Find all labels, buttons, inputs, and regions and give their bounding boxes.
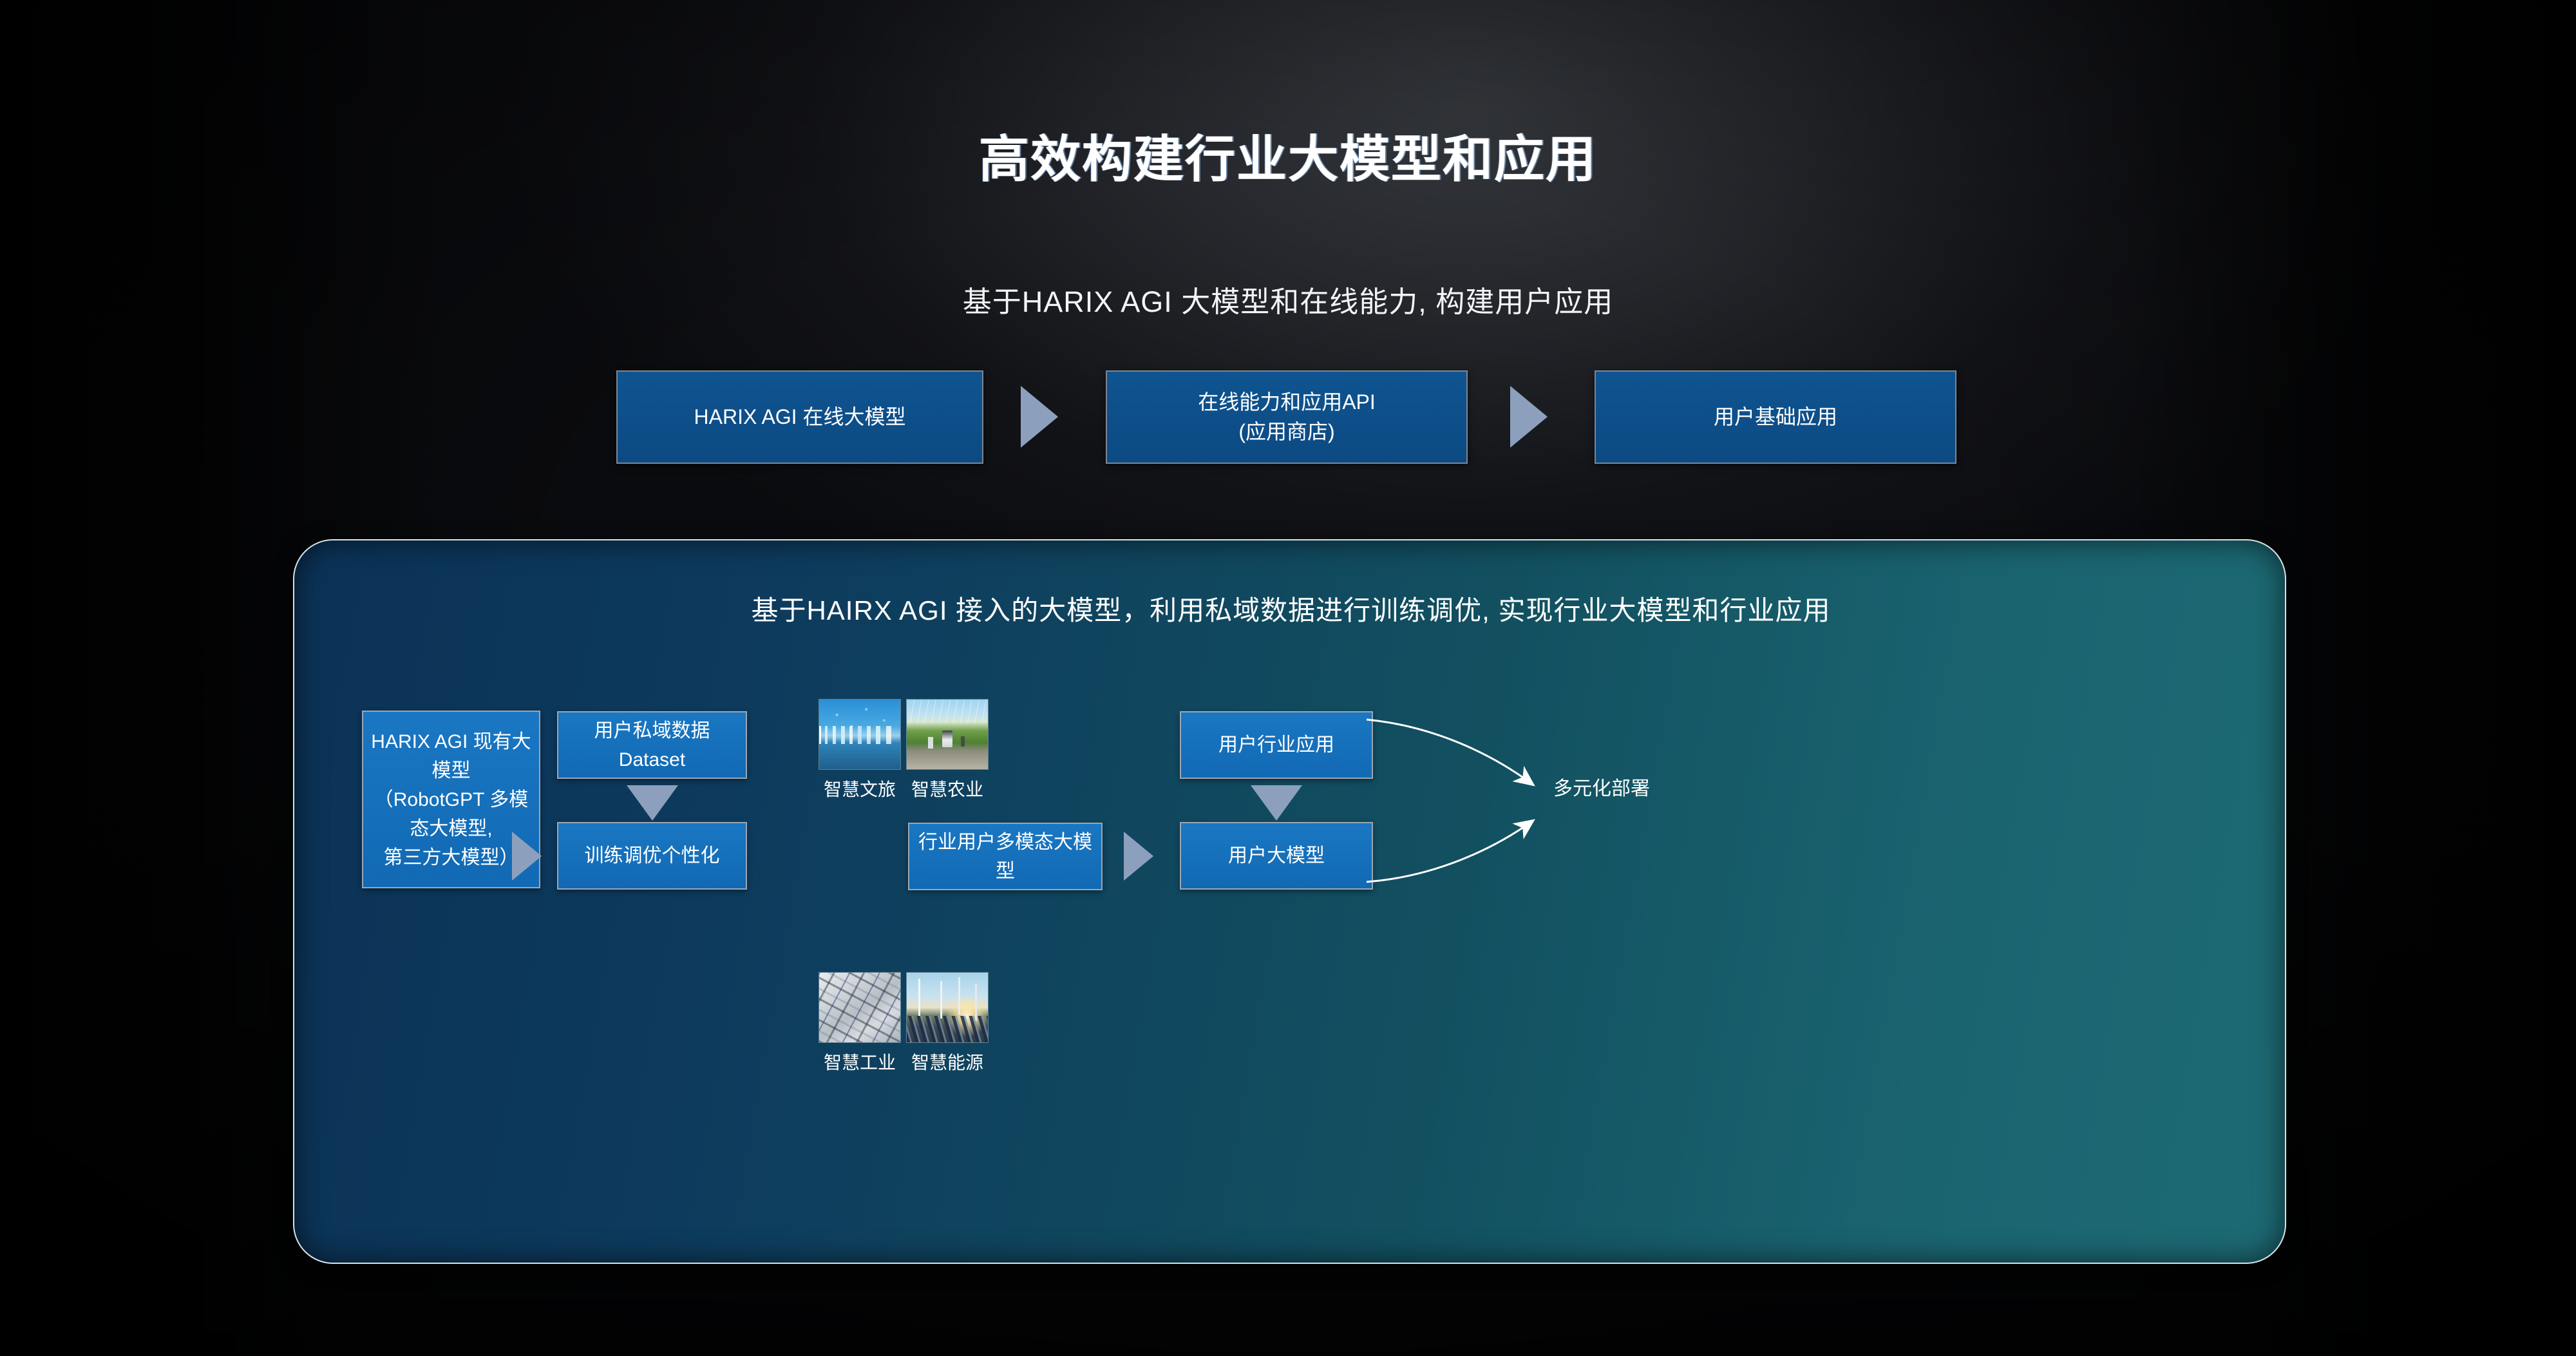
top-flow-box-user-base-app-label: 用户基础应用 — [1714, 403, 1837, 432]
thumbnail-smart-agriculture-caption: 智慧农业 — [906, 776, 989, 801]
smart-energy-image — [906, 972, 989, 1043]
top-flow-box-api-store-label-line1: 在线能力和应用API — [1198, 388, 1376, 417]
top-flow-box-online-model-label: HARIX AGI 在线大模型 — [694, 403, 906, 432]
thumbnail-smart-industry[interactable]: 智慧工业 — [819, 972, 901, 1074]
triangle-right-icon — [1124, 832, 1153, 881]
box-existing-large-model-line3: 第三方大模型） — [367, 843, 535, 872]
thumbnail-smart-energy[interactable]: 智慧能源 — [906, 972, 989, 1074]
smart-tourism-image — [819, 699, 901, 770]
deployment-curved-arrows — [1363, 695, 1621, 908]
panel-heading: 基于HAIRX AGI 接入的大模型，利用私域数据进行训练调优, 实现行业大模型… — [294, 589, 2286, 628]
thumbnail-smart-agriculture[interactable]: 智慧农业 — [906, 699, 989, 801]
box-private-dataset[interactable]: 用户私域数据 Dataset — [557, 711, 747, 779]
top-flow-box-api-store-label-line2: (应用商店) — [1198, 417, 1376, 446]
industry-model-panel: 基于HAIRX AGI 接入的大模型，利用私域数据进行训练调优, 实现行业大模型… — [293, 539, 2286, 1264]
top-flow-box-user-base-app[interactable]: 用户基础应用 — [1595, 370, 1956, 464]
triangle-down-icon — [627, 785, 678, 821]
box-training-tuning-label: 训练调优个性化 — [585, 841, 720, 870]
smart-agriculture-image — [906, 699, 989, 770]
triangle-right-icon — [1021, 386, 1058, 448]
triangle-down-icon — [1251, 785, 1302, 821]
thumbnail-smart-tourism-caption: 智慧文旅 — [819, 776, 901, 801]
top-flow-box-api-store[interactable]: 在线能力和应用API (应用商店) — [1106, 370, 1468, 464]
page-subtitle: 基于HARIX AGI 大模型和在线能力, 构建用户应用 — [0, 278, 2576, 320]
box-industry-multimodal-model-label: 行业用户多模态大模型 — [909, 828, 1101, 886]
box-private-dataset-label: 用户私域数据 Dataset — [558, 716, 746, 774]
box-user-industry-app[interactable]: 用户行业应用 — [1180, 711, 1373, 779]
box-existing-large-model-line1: HARIX AGI 现有大模型 — [367, 727, 535, 785]
box-user-large-model[interactable]: 用户大模型 — [1180, 822, 1373, 890]
box-user-industry-app-label: 用户行业应用 — [1218, 731, 1334, 759]
box-industry-multimodal-model[interactable]: 行业用户多模态大模型 — [908, 823, 1103, 890]
box-existing-large-model-line2: （RobotGPT 多模态大模型, — [367, 785, 535, 843]
thumbnail-smart-industry-caption: 智慧工业 — [819, 1049, 901, 1074]
box-training-tuning[interactable]: 训练调优个性化 — [557, 822, 747, 890]
page-title: 高效构建行业大模型和应用 — [0, 119, 2576, 191]
deployment-label: 多元化部署 — [1553, 772, 1747, 801]
top-flow-box-online-model[interactable]: HARIX AGI 在线大模型 — [616, 370, 983, 464]
thumbnail-smart-energy-caption: 智慧能源 — [906, 1049, 989, 1074]
smart-industry-image — [819, 972, 901, 1043]
box-user-large-model-label: 用户大模型 — [1228, 841, 1325, 870]
triangle-right-icon — [512, 832, 542, 881]
thumbnail-smart-tourism[interactable]: 智慧文旅 — [819, 699, 901, 801]
triangle-right-icon — [1510, 386, 1548, 448]
